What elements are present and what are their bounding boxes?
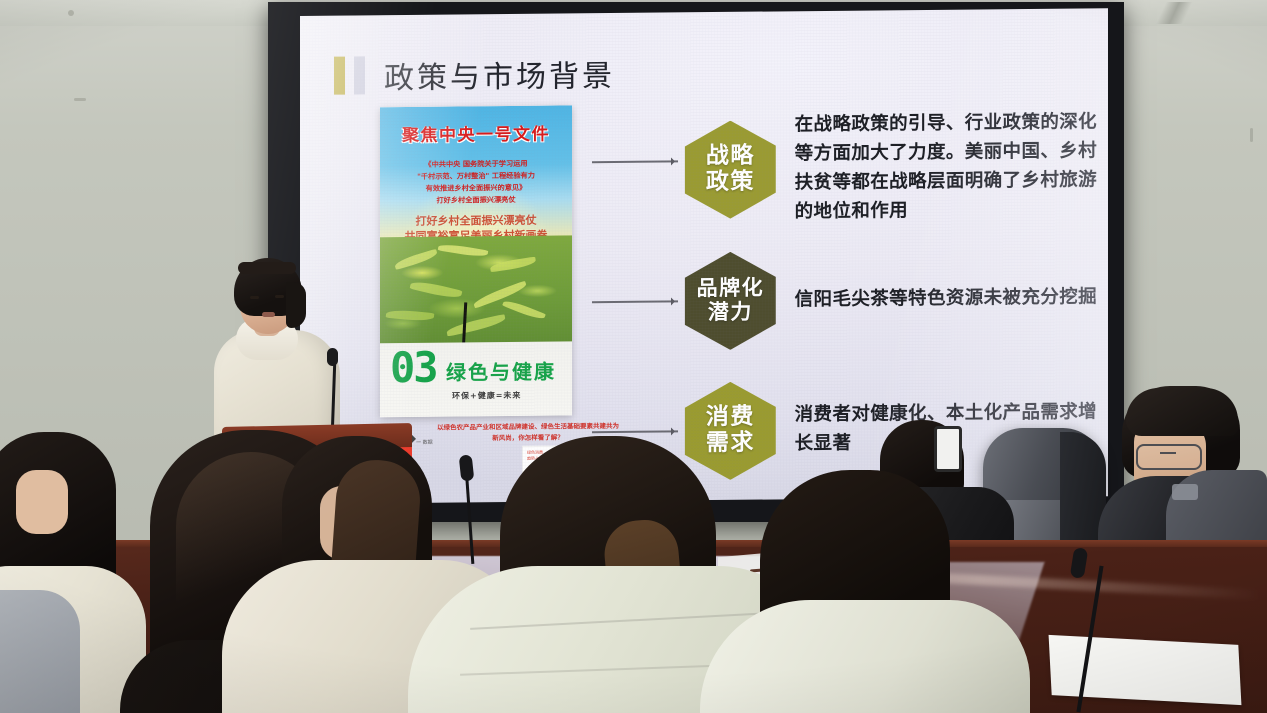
connector-arrow-2 (592, 300, 678, 302)
hexagon-badge-consumer-demand: 消费 需求 (682, 381, 779, 480)
item-description-branding-potential: 信阳毛尖茶等特色资源未被充分挖掘 (795, 283, 1102, 315)
wall-mark (1250, 128, 1253, 142)
poster-subtitle: 《中共中央 国务院关于学习运用 "千村示范、万村整治" 工程经验有力 有效推进乡… (390, 157, 562, 206)
jacket-shoulder-tag (1172, 484, 1198, 500)
audience-1-face (16, 470, 68, 534)
title-accent-bar-gold (334, 57, 345, 95)
hexagon-badge-branding-potential: 品牌化 潜力 (682, 251, 779, 350)
poster-section-title: 绿色与健康 (446, 356, 556, 386)
slide-poster-image: 聚焦中央一号文件 《中共中央 国务院关于学习运用 "千村示范、万村整治" 工程经… (380, 105, 572, 417)
presenter-hair-side (286, 282, 306, 328)
poster-section-number: 03 (390, 347, 437, 389)
paper-sheet-right (1049, 635, 1242, 705)
slide-title-text: 政策与市场背景 (384, 51, 615, 97)
hexagon-label: 品牌化 潜力 (697, 277, 765, 325)
wall-mark (74, 98, 86, 101)
hexagon-badge-strategic-policy: 战略 政策 (682, 120, 779, 219)
poster-tea-leaves-photo (380, 235, 572, 357)
hexagon-label: 战略 政策 (706, 144, 755, 196)
poster-section-subtitle: 环保+健康=未来 (452, 390, 521, 402)
audience-man-fringe (1126, 388, 1238, 436)
footer-legend: 一 数据 (416, 439, 433, 446)
item-description-strategic-policy: 在战略政策的引导、行业政策的深化等方面加大了力度。美丽中国、乡村扶贫等都在战略层… (795, 108, 1102, 226)
presentation-screen: 政策与市场背景 聚焦中央一号文件 《中共中央 国务院关于学习运用 "千村示范、万… (300, 8, 1108, 504)
slide-item-branding-potential: 品牌化 潜力 信阳毛尖茶等特色资源未被充分挖掘 (682, 248, 1102, 350)
microphone-head-2 (459, 454, 475, 481)
slide-item-strategic-policy: 战略 政策 在战略政策的引导、行业政策的深化等方面加大了力度。美丽中国、乡村扶贫… (682, 108, 1102, 227)
photo-scene: 政策与市场背景 聚焦中央一号文件 《中共中央 国务院关于学习运用 "千村示范、万… (0, 0, 1267, 713)
presenter-mouth (262, 312, 275, 317)
eyeglasses-icon (1136, 444, 1202, 470)
audience-5-jacket (700, 600, 1030, 713)
wall-mark (68, 10, 74, 16)
slide-title-group: 政策与市场背景 (334, 51, 615, 98)
presenter-eye-left (250, 296, 259, 299)
hexagon-label: 消费 需求 (706, 405, 755, 457)
poster-headline: 聚焦中央一号文件 (380, 119, 572, 146)
audience-1-shoulder (0, 590, 80, 713)
title-accent-bar-gray (354, 56, 365, 94)
eyeglasses-bridge (1160, 452, 1176, 454)
connector-arrow-1 (592, 160, 678, 162)
presenter-eye-right (275, 295, 284, 298)
audience-woman-hair-clip (934, 426, 962, 472)
microphone-head (327, 348, 338, 366)
presenter-hairband (238, 262, 296, 274)
